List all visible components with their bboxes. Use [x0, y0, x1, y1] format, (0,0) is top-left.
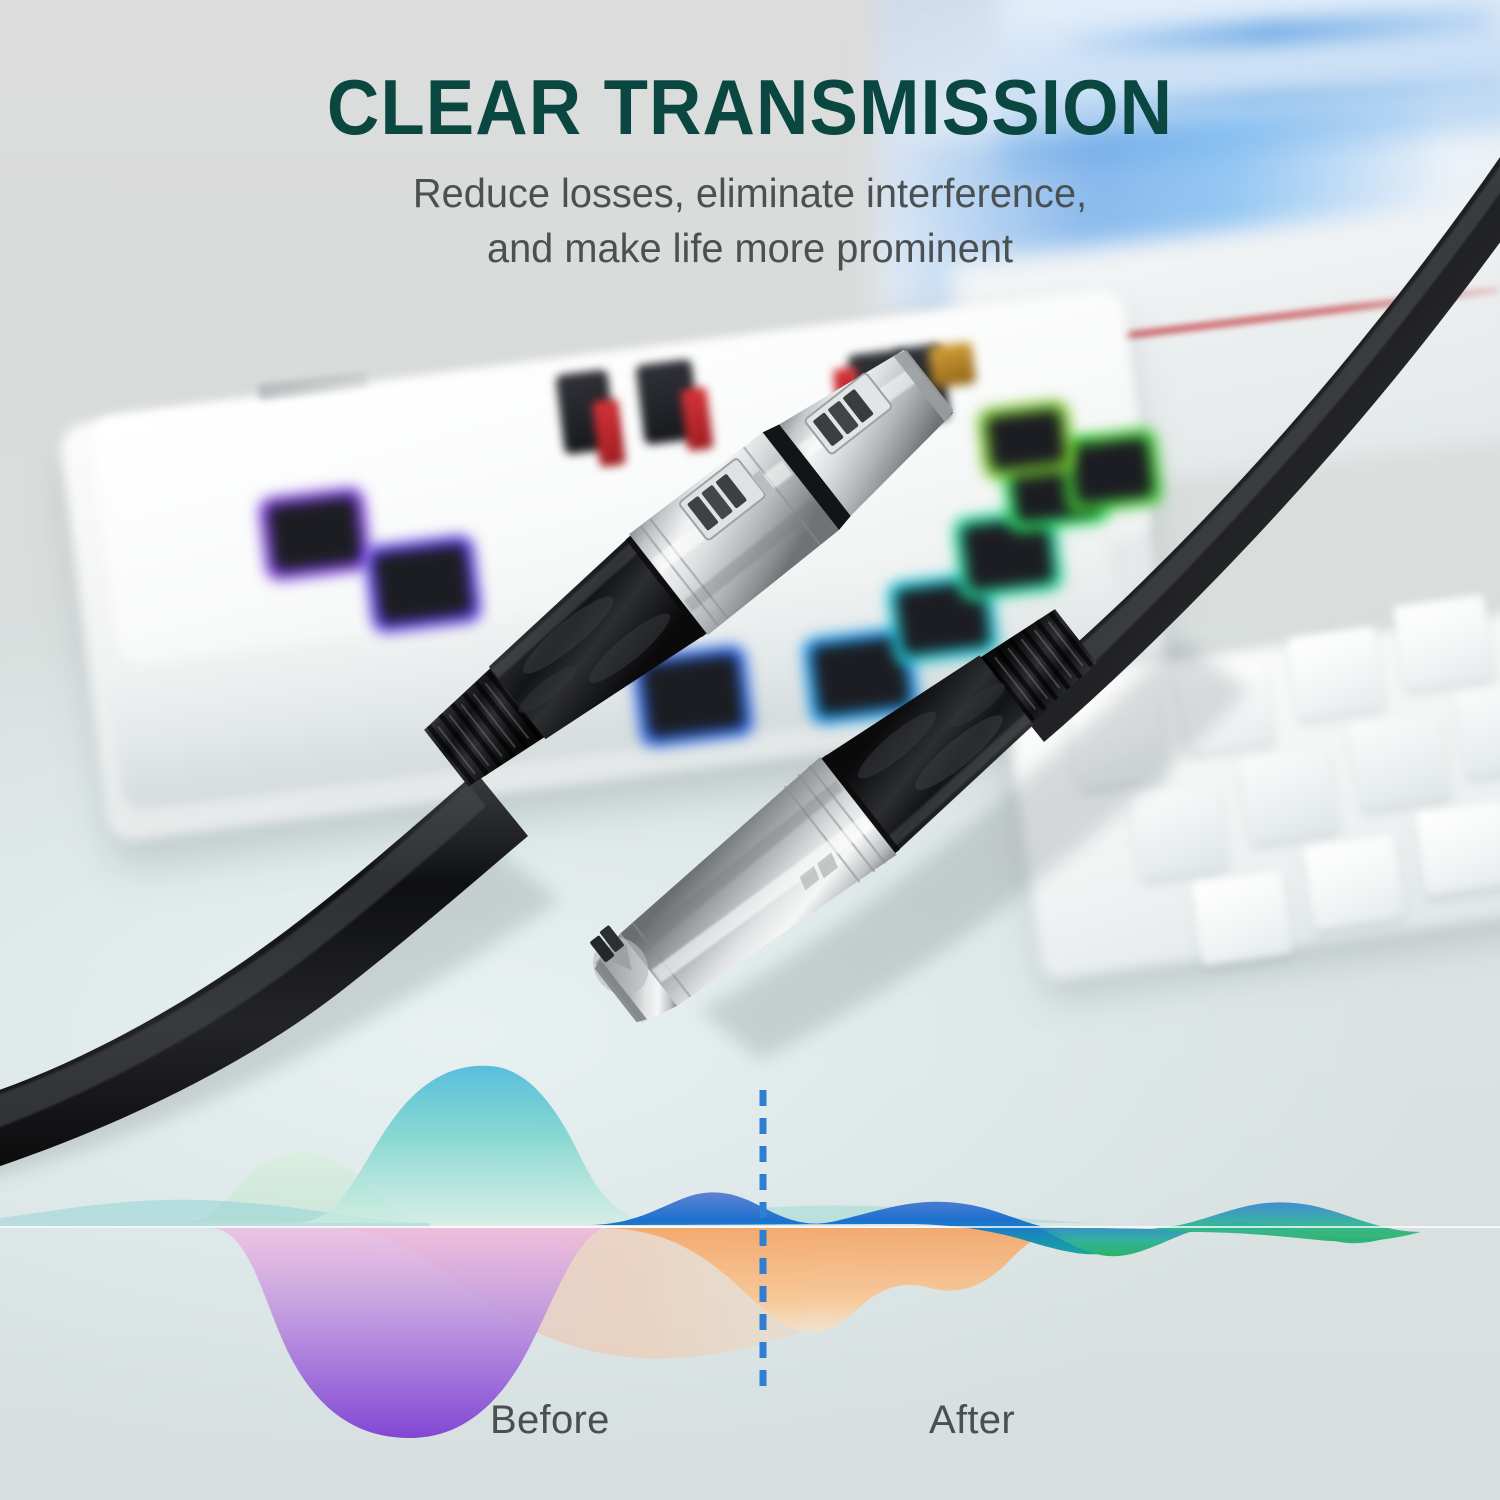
waveform-labels: Before After [0, 1398, 1500, 1468]
page-subtitle: Reduce losses, eliminate interference, a… [23, 146, 1478, 275]
before-label: Before [490, 1398, 610, 1443]
header-block: CLEAR TRANSMISSION Reduce losses, elimin… [0, 0, 1500, 275]
wave-noisy-upper [295, 1066, 672, 1223]
subtitle-line-2: and make life more prominent [23, 221, 1478, 276]
subtitle-line-1: Reduce losses, eliminate interference, [23, 166, 1478, 221]
page-title: CLEAR TRANSMISSION [53, 0, 1448, 146]
after-label: After [929, 1398, 1015, 1443]
product-marketing-image: CLEAR TRANSMISSION Reduce losses, elimin… [0, 0, 1500, 1500]
